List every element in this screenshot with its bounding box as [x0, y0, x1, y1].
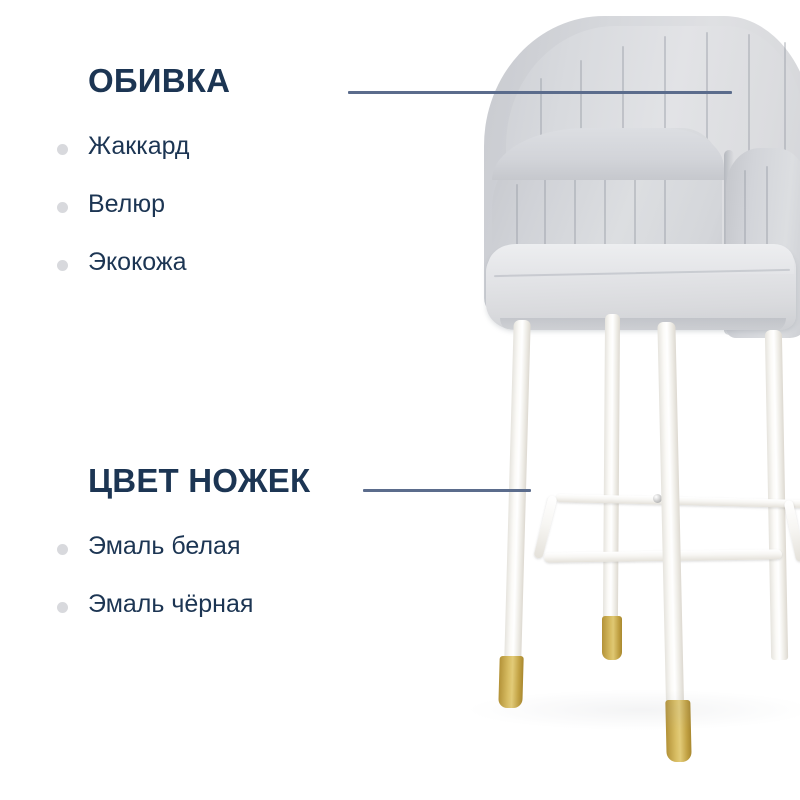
infographic-canvas: ОБИВКА Жаккард Велюр Экокожа ЦВЕТ НОЖЕК … [0, 0, 800, 800]
chair-leg-tip-back-left [602, 616, 622, 660]
bar-stool-product-image [0, 0, 800, 800]
leader-line-upholstery [348, 91, 732, 94]
chair-seat-shadow [500, 318, 786, 332]
chair-leg-back-left [603, 314, 620, 620]
footrest-rail-left [533, 495, 557, 559]
chair-leg-back-right [765, 330, 788, 660]
leader-line-leg-color [363, 489, 531, 492]
floor-shadow [470, 690, 800, 730]
chair-leg-front-right [657, 322, 684, 732]
